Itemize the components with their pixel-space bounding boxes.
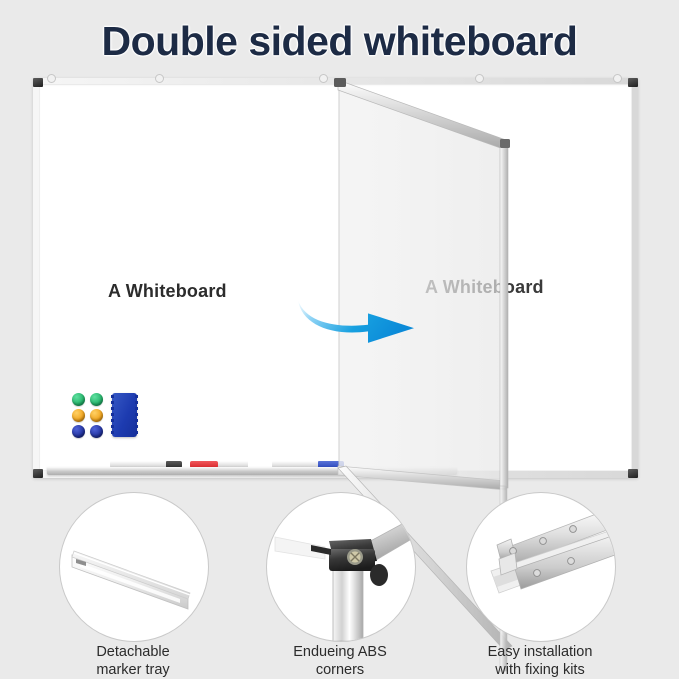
frame-corner-top-right [628, 78, 638, 87]
frame-corner-bottom-right [628, 469, 638, 478]
magnet-green-2 [90, 393, 103, 406]
marker-tray-detail-icon [60, 493, 208, 641]
page-title: Double sided whiteboard [0, 18, 679, 65]
magnet-blue-1 [72, 425, 85, 438]
callout-caption: Easy installation with fixing kits [452, 644, 628, 679]
mount-hole [155, 74, 164, 83]
abs-corner-detail-icon [267, 493, 415, 641]
mount-hole [613, 74, 622, 83]
arrow-shape [298, 300, 414, 343]
caption-line-2: marker tray [45, 662, 221, 679]
whiteboard-eraser [112, 393, 137, 437]
caption-line-1: Easy installation [452, 644, 628, 662]
magnet-orange-1 [72, 409, 85, 422]
fixing-kit-detail-icon [467, 493, 615, 641]
frame-corner-top-left [33, 78, 43, 87]
magnet-green-1 [72, 393, 85, 406]
callout-caption: Endueing ABS corners [252, 644, 428, 679]
callout-circle [266, 492, 416, 642]
caption-line-1: Detachable [45, 644, 221, 662]
magnet-blue-2 [90, 425, 103, 438]
callout-abs-corners: Endueing ABS corners [266, 492, 414, 640]
mount-hole [475, 74, 484, 83]
product-infographic: Double sided whiteboard A Whiteboard A W… [0, 0, 679, 679]
marker-tray [47, 467, 457, 475]
mount-hole [47, 74, 56, 83]
board-label-back: A Whiteboard [425, 277, 544, 298]
callout-circle [59, 492, 209, 642]
callout-detachable-marker-tray: Detachable marker tray [59, 492, 207, 640]
caption-line-2: with fixing kits [452, 662, 628, 679]
callout-fixing-kits: Easy installation with fixing kits [466, 492, 614, 640]
mount-hole [319, 74, 328, 83]
callout-circle [466, 492, 616, 642]
magnet-orange-2 [90, 409, 103, 422]
caption-line-1: Endueing ABS [252, 644, 428, 662]
board-accessories [72, 393, 162, 439]
callout-caption: Detachable marker tray [45, 644, 221, 679]
frame-corner-bottom-left [33, 469, 43, 478]
flip-direction-arrow [296, 298, 418, 350]
caption-line-2: corners [252, 662, 428, 679]
board-label-front: A Whiteboard [108, 281, 227, 302]
